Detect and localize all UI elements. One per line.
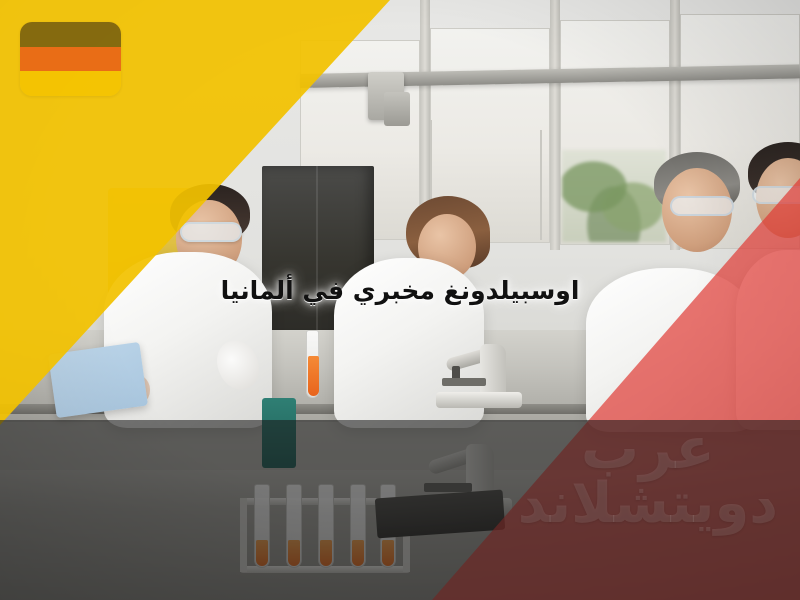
banner-image: عرب دويتشلاند اوسبيلدونغ مخبري في ألماني… xyxy=(0,0,800,600)
flag-band-red xyxy=(20,47,121,72)
flag-band-gold xyxy=(20,71,121,96)
banner-title: اوسبيلدونغ مخبري في ألمانيا xyxy=(0,272,800,310)
germany-flag-icon xyxy=(20,22,121,96)
dark-bottom-overlay xyxy=(0,420,800,600)
flag-band-black xyxy=(20,22,121,47)
